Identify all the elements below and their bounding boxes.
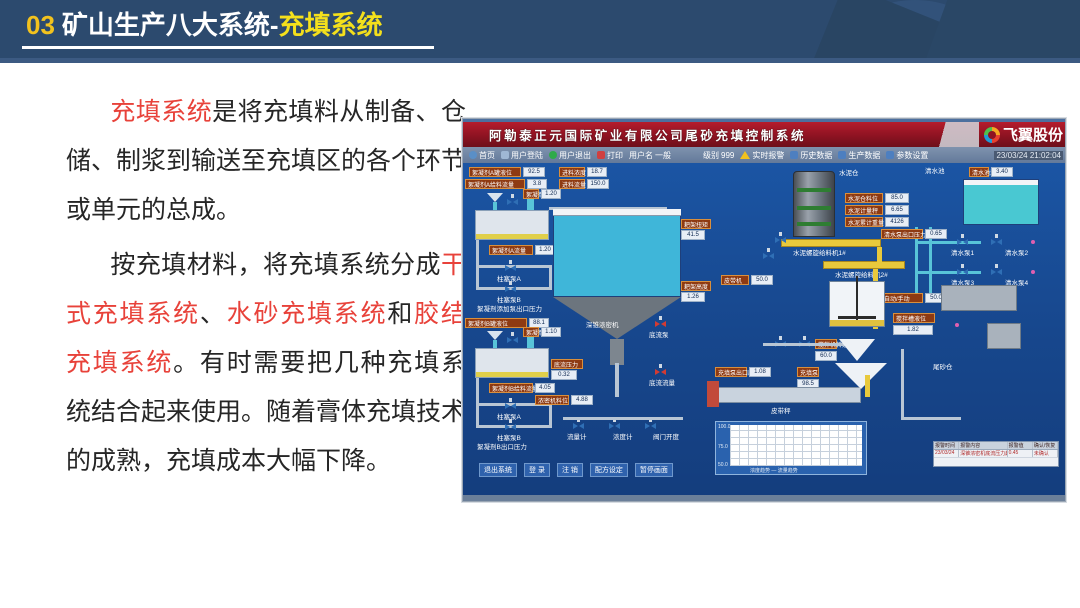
hmi-button-exit[interactable]: 退出系统 <box>479 463 517 477</box>
trend-plot-area <box>730 425 862 466</box>
label-water-tank: 清水池 <box>925 167 945 176</box>
tag-clean-pump-press: 清水泵出口压力 <box>881 229 923 239</box>
water-header-2 <box>915 271 981 274</box>
valve-stem <box>995 264 998 268</box>
hmi-process-canvas: 絮凝剂A罐液位 92.5 絮凝剂A给料流量 3.8 絮凝剂A设定 1.20 絮凝… <box>463 163 1065 501</box>
value-mixer-level: 1.82 <box>893 325 933 335</box>
water-tank-top <box>964 180 1038 185</box>
page-title: 03矿山生产八大系统-充填系统 <box>26 8 383 42</box>
floc-b-feed-pipe <box>493 340 497 348</box>
cement-screw-conveyor-1 <box>781 239 881 247</box>
paragraph-2-sep-2: 和 <box>387 300 414 328</box>
label-thickener: 深锥浓密机 <box>586 321 619 330</box>
tag-floc-b-flow: 絮凝剂B给料流量 <box>489 383 533 393</box>
banner-decoration-circle-1 <box>920 0 1080 58</box>
right-vertical-pipe <box>901 349 904 419</box>
floc-a-inlet-valve[interactable] <box>507 197 518 206</box>
label-pump-a2: 柱塞泵B <box>497 296 521 305</box>
deep-cone-thickener <box>553 209 681 317</box>
toolbar-history-label: 历史数据 <box>800 150 832 161</box>
value-rake-height: 1.26 <box>681 292 705 302</box>
hmi-status-bar <box>463 495 1065 501</box>
value-thickener-level: 4.88 <box>571 395 593 405</box>
tag-mixer-level: 搅拌槽液位 <box>893 313 935 323</box>
username-label: 用户名 <box>629 150 653 161</box>
toolbar-production-data-button[interactable]: 生产数据 <box>838 150 880 161</box>
value-floc-a-set: 1.20 <box>541 189 561 199</box>
hmi-button-logout[interactable]: 注 销 <box>557 463 583 477</box>
equipment-plate-right <box>941 285 1017 311</box>
title-accent: 充填系统 <box>279 10 383 40</box>
level-value: 999 <box>721 151 734 160</box>
hmi-button-pause[interactable]: 暂停画面 <box>635 463 673 477</box>
valve-stem <box>803 336 806 340</box>
tag-feed-flow: 进料流量 <box>559 179 585 189</box>
value-water-level: 3.40 <box>991 167 1013 177</box>
alarm-cell-time: 23/03/24 <box>934 450 959 457</box>
tag-floc-b-tank: 絮凝剂B罐液位 <box>465 318 527 328</box>
label-pump-a-note: 絮凝剂添加泵出口压力 <box>477 305 542 314</box>
hmi-title-bar: 阿勒泰正元国际矿业有限公司尾砂充填控制系统 飞翼股份 <box>463 122 1065 147</box>
hmi-button-login[interactable]: 登 录 <box>524 463 550 477</box>
alarm-table[interactable]: 报警时间 报警内容 报警值 确认/恢复 23/03/24 深锥浓密机底流压力超限… <box>933 441 1059 467</box>
company-logo-text: 飞翼股份 <box>1003 124 1063 145</box>
toolbar-home-button[interactable]: 首页 <box>469 150 495 161</box>
tag-belt: 皮带机 <box>721 275 749 285</box>
paragraph-1: 充填系统是将充填料从制备、仓储、制浆到输送至充填区的各个环节或单元的总成。 <box>66 88 466 235</box>
toolbar-production-label: 生产数据 <box>848 150 880 161</box>
valve-stem <box>509 398 512 402</box>
slide-header-banner: 03矿山生产八大系统-充填系统 <box>0 0 1080 58</box>
alarm-header-value: 报警值 <box>1008 442 1033 449</box>
valve-stem <box>779 336 782 340</box>
floc-a-feed-funnel <box>487 193 503 202</box>
toolbar-login-button[interactable]: 用户登陆 <box>501 150 543 161</box>
water-header-1 <box>915 241 981 244</box>
valve-stem <box>509 260 512 264</box>
equipment-plate-small <box>987 323 1021 349</box>
bottom-valve-3[interactable] <box>645 421 656 430</box>
cement-silo-band-1 <box>797 188 831 192</box>
toolbar-logout-button[interactable]: 用户退出 <box>549 150 591 161</box>
value-floc-a-flow: 3.8 <box>527 179 547 189</box>
paragraph-2: 按充填材料，将充填系统分成干式充填系统、水砂充填系统和胶结充填系统。有时需要把几… <box>66 241 466 486</box>
cement-silo-band-3 <box>797 222 831 226</box>
thickener-top-cover <box>553 209 681 216</box>
tag-cement-weight: 水泥累计重量 <box>845 217 883 227</box>
floc-b-tank <box>475 348 549 378</box>
floc-b-pump-loop-right <box>549 403 552 428</box>
cement-screw-valve[interactable] <box>775 235 786 244</box>
water-node-3 <box>955 323 959 327</box>
label-screw-2: 水泥螺旋给料机2# <box>835 271 888 280</box>
mixer-discharge-cone <box>839 339 875 361</box>
label-underflow-pump: 底流泵 <box>649 331 669 340</box>
value-floc-a-set2: 1.20 <box>535 245 555 255</box>
tag-floc-a-set: 絮凝剂A设定 <box>523 189 539 199</box>
level-label: 级别 <box>703 150 719 161</box>
trend-axis-mid: 75.0 <box>718 444 728 450</box>
cement-drop-chute-1 <box>877 247 882 263</box>
trend-axis-top: 100.0 <box>718 424 731 430</box>
fill-pump-machine <box>713 387 861 403</box>
toolbar-print-label: 打印 <box>607 150 623 161</box>
valve-stem <box>511 194 514 198</box>
value-cement-weight: 4126 <box>885 217 909 227</box>
fill-discharge-chute <box>865 375 870 397</box>
right-bottom-pipe <box>901 417 961 420</box>
tag-floc-b-set: 絮凝剂B设定 <box>523 327 539 337</box>
value-floc-a-tank: 92.5 <box>523 167 545 177</box>
thickener-body <box>553 209 681 297</box>
warning-triangle-icon <box>740 151 750 159</box>
mixer-blade <box>838 316 876 319</box>
valve-stem <box>511 332 514 336</box>
home-icon <box>469 151 477 159</box>
tag-thickener-level: 浓密机料位 <box>535 395 569 405</box>
floc-b-pump-valve-2[interactable] <box>505 422 516 431</box>
cement-silo <box>793 171 835 237</box>
value-cement-feeder: 6.65 <box>885 205 909 215</box>
underflow-valve-1[interactable] <box>655 319 666 328</box>
tag-floc-a-out: 絮凝剂A流量 <box>489 245 533 255</box>
username-value: 一般 <box>655 150 671 161</box>
toolbar-param-config-button[interactable]: 参数设置 <box>886 150 928 161</box>
tag-floc-a-flow: 絮凝剂A给料流量 <box>465 179 525 189</box>
floc-b-outlet-down <box>476 378 479 406</box>
cement-screw-conveyor-2 <box>823 261 905 269</box>
floc-b-inlet-valve[interactable] <box>507 335 518 344</box>
clean-pump-valve-2[interactable] <box>991 237 1002 246</box>
floc-a-pump-valve-2[interactable] <box>505 284 516 293</box>
production-chart-icon <box>838 151 846 159</box>
underflow-valve-2[interactable] <box>655 367 666 376</box>
valve-stem <box>961 234 964 238</box>
valve-stem <box>509 281 512 285</box>
tag-auto-manual: 自动/手动 <box>881 293 923 303</box>
section-number: 03 <box>26 10 55 40</box>
hmi-toolbar[interactable]: 首页 用户登陆 用户退出 打印 用户名一般 级别999 实时报警 历史数据 生产… <box>463 147 1065 163</box>
hmi-screenshot-panel: 阿勒泰正元国际矿业有限公司尾砂充填控制系统 飞翼股份 首页 用户登陆 用户退出 … <box>462 118 1066 502</box>
toolbar-alarm-label: 实时报警 <box>752 150 784 161</box>
cement-silo-band-2 <box>797 206 831 210</box>
paragraph-2-lead: 按充填材料，将充填系统分成 <box>110 251 441 279</box>
valve-stem <box>509 419 512 423</box>
bottom-header-pipe <box>563 417 683 420</box>
mixing-tank <box>829 281 885 327</box>
floc-a-tank-level <box>476 234 548 239</box>
floc-b-pump-valve-1[interactable] <box>505 401 516 410</box>
toolbar-home-label: 首页 <box>479 150 495 161</box>
value-thickener-press: 0.32 <box>551 370 577 380</box>
clean-pump-valve-4[interactable] <box>991 267 1002 276</box>
toolbar-login-label: 用户登陆 <box>511 150 543 161</box>
thickener-underflow-neck <box>610 339 624 365</box>
valve-stem <box>779 232 782 236</box>
toolbar-logout-label: 用户退出 <box>559 150 591 161</box>
banner-decoration-circle-2 <box>810 0 1020 58</box>
alarm-header-time: 报警时间 <box>934 442 959 449</box>
water-node-2 <box>1031 270 1035 274</box>
floc-a-pump-valve-1[interactable] <box>505 263 516 272</box>
tag-rake-torque: 耙架扭矩 <box>681 219 711 229</box>
title-main: 矿山生产八大系统- <box>62 10 279 40</box>
alarm-cell-content: 深锥浓密机底流压力超限 <box>959 450 1007 457</box>
toolbar-username: 用户名一般 <box>629 150 671 161</box>
clean-pump-valve-3[interactable] <box>957 267 968 276</box>
banner-bottom-bar <box>0 58 1080 63</box>
clean-pump-valve-1[interactable] <box>957 237 968 246</box>
banner-decoration-shape-2 <box>893 0 1080 58</box>
floc-a-outlet-down <box>476 240 479 268</box>
logout-icon <box>549 151 557 159</box>
hmi-company-logo: 飞翼股份 <box>984 122 1063 147</box>
value-feed-flow: 150.0 <box>587 179 609 189</box>
tag-cement-level: 水泥仓料位 <box>845 193 883 203</box>
alarm-cell-ack: 未确认 <box>1033 450 1058 457</box>
toolbar-param-label: 参数设置 <box>896 150 928 161</box>
thickener-underflow-pipe <box>615 363 619 397</box>
trend-axis-bottom: 50.0 <box>718 462 728 468</box>
hmi-system-title: 阿勒泰正元国际矿业有限公司尾砂充填控制系统 <box>489 125 806 144</box>
settings-icon <box>886 151 894 159</box>
trend-caption: 浓度趋势 — 流量趋势 <box>750 467 798 474</box>
tag-thickener-press: 底流压力 <box>551 359 583 369</box>
fill-pump-drive <box>707 381 719 407</box>
bottom-valve-1[interactable] <box>573 421 584 430</box>
trend-chart: 100.0 75.0 50.0 浓度趋势 — 流量趋势 <box>715 421 867 475</box>
label-valve-open: 阀门开度 <box>653 433 679 442</box>
value-mixer-speed: 60.0 <box>815 351 837 361</box>
title-underline <box>22 46 434 49</box>
label-pump-b-note: 絮凝剂B出口压力 <box>477 443 527 452</box>
paragraph-2-sep-1: 、 <box>200 300 227 328</box>
floc-b-tank-level <box>476 372 548 377</box>
toolbar-history-data-button[interactable]: 历史数据 <box>790 150 832 161</box>
value-belt: 50.0 <box>751 275 773 285</box>
valve-stem <box>659 364 662 368</box>
value-rake-torque: 41.5 <box>681 230 705 240</box>
hmi-button-recipe[interactable]: 配方设定 <box>590 463 628 477</box>
value-feed-conc: 18.7 <box>587 167 607 177</box>
floc-a-pump-loop-right <box>549 265 552 290</box>
alarm-table-row[interactable]: 23/03/24 深锥浓密机底流压力超限 0.45 未确认 <box>934 450 1058 458</box>
label-pump-b2: 柱塞泵B <box>497 434 521 443</box>
hmi-title-decoration <box>919 122 979 147</box>
print-icon <box>597 151 605 159</box>
login-icon <box>501 151 509 159</box>
banner-decoration-shape-1 <box>784 0 955 58</box>
water-node-1 <box>1031 240 1035 244</box>
tag-rake-height: 耙架高度 <box>681 281 711 291</box>
hmi-timestamp: 23/03/24 21:02:04 <box>994 151 1063 160</box>
tag-feed-conc: 进料浓度 <box>559 167 585 177</box>
label-underflow-flow: 底流流量 <box>649 379 675 388</box>
alarm-table-header-row: 报警时间 报警内容 报警值 确认/恢复 <box>934 442 1058 450</box>
clean-water-tank <box>963 179 1039 225</box>
alarm-header-ack: 确认/恢复 <box>1033 442 1058 449</box>
label-clean-pump-1: 清水泵1 <box>951 249 974 258</box>
value-fill-press: 1.08 <box>749 367 771 377</box>
tag-cement-feeder: 水泥计量秤 <box>845 205 883 215</box>
history-chart-icon <box>790 151 798 159</box>
hmi-button-bar[interactable]: 退出系统 登 录 注 销 配方设定 暂停画面 <box>479 463 673 477</box>
alarm-cell-value: 0.45 <box>1008 450 1033 457</box>
label-densimeter: 浓度计 <box>613 433 633 442</box>
toolbar-level: 级别999 <box>703 150 734 161</box>
bottom-valve-2[interactable] <box>609 421 620 430</box>
fill-pump-hopper <box>835 363 887 389</box>
label-cement-silo: 水泥仓 <box>839 169 859 178</box>
toolbar-realtime-alarm-button[interactable]: 实时报警 <box>740 150 784 161</box>
tag-fill-press: 充填泵出口压力 <box>715 367 747 377</box>
paragraph-2-highlight-2: 水砂充填系统 <box>227 300 388 328</box>
label-fill-conveyor: 皮带秤 <box>771 407 791 416</box>
paragraph-1-highlight: 充填系统 <box>110 98 212 126</box>
label-tailing-sand: 尾砂仓 <box>933 363 953 372</box>
slide-body-text: 充填系统是将充填料从制备、仓储、制浆到输送至充填区的各个环节或单元的总成。 按充… <box>66 88 466 486</box>
value-cement-level: 85.0 <box>885 193 909 203</box>
floc-b-feed-funnel <box>487 331 503 340</box>
floc-a-tank <box>475 210 549 240</box>
value-clean-pump-press: 0.65 <box>925 229 947 239</box>
label-screw-1: 水泥螺旋给料机1# <box>793 249 846 258</box>
tag-fill-pump: 充填泵 <box>797 367 819 377</box>
valve-stem <box>961 264 964 268</box>
valve-stem <box>659 316 662 320</box>
valve-stem <box>995 234 998 238</box>
value-floc-b-flow: 4.05 <box>535 383 555 393</box>
valve-stem <box>767 248 770 252</box>
mixer-base <box>830 320 884 326</box>
label-clean-pump-2: 清水泵2 <box>1005 249 1028 258</box>
toolbar-print-button[interactable]: 打印 <box>597 150 623 161</box>
company-logo-icon <box>984 127 1000 143</box>
alarm-header-content: 报警内容 <box>959 442 1007 449</box>
floc-a-feed-pipe <box>493 202 497 210</box>
tag-floc-a-tank: 絮凝剂A罐液位 <box>469 167 521 177</box>
label-flowmeter: 流量计 <box>567 433 587 442</box>
mixer-shaft <box>856 276 858 320</box>
tag-water-level: 清水池液位 <box>969 167 989 177</box>
cement-outlet-valve[interactable] <box>763 251 774 260</box>
